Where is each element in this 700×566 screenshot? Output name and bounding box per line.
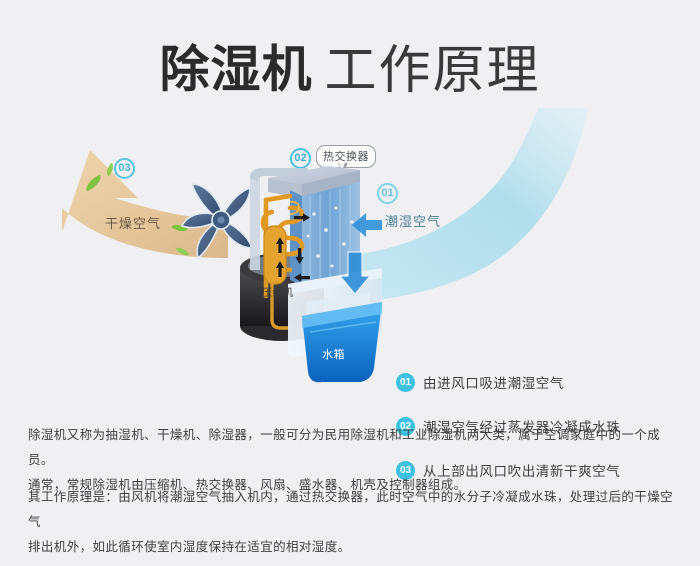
- infographic-page: 除湿机工作原理: [0, 0, 700, 566]
- legend-item: 01 由进风口吸进潮湿空气: [396, 372, 686, 392]
- diagram-stage: 03 干燥空气 01 潮湿空气 02 热交换器: [0, 118, 700, 398]
- humid-air-label: 潮湿空气: [385, 211, 441, 230]
- page-title: 除湿机工作原理: [0, 28, 700, 103]
- paragraph-2-line-2: 排出机外，如此循环使室内湿度保持在适宜的相对湿度。: [28, 535, 676, 560]
- legend-badge-01: 01: [396, 373, 415, 392]
- title-part-secondary: 工作原理: [324, 42, 540, 100]
- dehumidifier-unit-illustration: [232, 156, 392, 386]
- title-part-primary: 除湿机: [159, 42, 312, 98]
- compressor-label: 压缩机: [262, 284, 294, 299]
- dry-air-label: 干燥空气: [105, 213, 161, 232]
- legend-text-01: 由进风口吸进潮湿空气: [423, 372, 564, 392]
- body-paragraph-2: 其工作原理是：由风机将潮湿空气抽入机内，通过热交换器，此时空气中的水分子冷凝成水…: [28, 485, 676, 560]
- section-divider: [28, 408, 672, 409]
- water-tank-label: 水箱: [322, 346, 345, 362]
- paragraph-2-line-1: 其工作原理是：由风机将潮湿空气抽入机内，通过热交换器，此时空气中的水分子冷凝成水…: [28, 485, 676, 535]
- diagram-number-03: 03: [114, 158, 135, 179]
- paragraph-1-line-1: 除湿机又称为抽湿机、干燥机、除湿器，一般可分为民用除湿机和工业除湿机两大类，属于…: [28, 423, 676, 473]
